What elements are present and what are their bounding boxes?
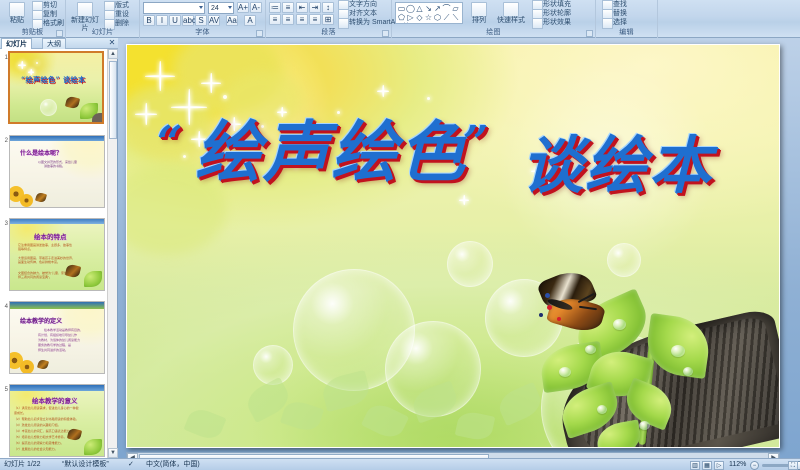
mini-body-line: （5）培养幼儿想象力和文学艺术修养。 xyxy=(14,435,67,439)
thumbnail-number: 3 xyxy=(1,221,8,227)
ribbon-group-editing-label: 编辑 xyxy=(596,27,657,38)
mini-slide-canvas: 绘本的特点 它注重用图画讲述故事，主题多、故事性 强等特点。 大量运用图画，带着… xyxy=(10,219,104,290)
title-close-quote: ” xyxy=(463,117,490,168)
shape-outline-button[interactable]: 形状轮廓 xyxy=(532,9,571,18)
copy-button[interactable]: 复制 xyxy=(32,10,57,19)
mini-slide-canvas: “绘声绘色” 谈绘本 xyxy=(10,53,102,122)
paste-button[interactable]: 粘贴 xyxy=(3,1,31,25)
thumbnail-number: 5 xyxy=(1,387,8,393)
italic-button[interactable]: I xyxy=(156,15,168,26)
bullets-button[interactable]: ≔ xyxy=(269,2,281,13)
ribbon-group-slides-label: 幻灯片 xyxy=(66,27,139,38)
paragraph-dialog-launcher[interactable] xyxy=(382,30,389,37)
thumbnail-image: 绘本教学的定义 绘本教学活动是教师有目的、 有计划、有组织地引导幼儿作 为教材、… xyxy=(9,301,105,374)
tab-slides[interactable]: 幻灯片 xyxy=(1,38,32,49)
paste-icon xyxy=(9,2,25,17)
cut-button[interactable]: 剪切 xyxy=(32,1,57,10)
thumbnail-image: 什么是绘本呢？ 以图文并茂的形式，来给儿童 讲故事的书籍。 xyxy=(9,135,105,208)
butterfly-spot xyxy=(545,293,550,298)
copy-label: 复制 xyxy=(43,11,57,18)
columns-button[interactable]: ⊞ xyxy=(322,14,334,25)
mini-title: 绘本教学的意义 xyxy=(32,395,78,405)
underline-button[interactable]: U xyxy=(169,15,181,26)
change-case-button[interactable]: Aa xyxy=(226,15,238,26)
normal-view-button[interactable]: ▥ xyxy=(690,461,700,470)
butterfly-spot xyxy=(557,317,561,321)
format-painter-label: 格式刷 xyxy=(43,20,64,27)
current-slide[interactable]: “ 绘声绘色 ” 谈绘本 xyxy=(126,44,780,448)
grow-font-button[interactable]: A+ xyxy=(237,2,249,13)
shape-line-icon[interactable]: ⟋ xyxy=(442,13,451,22)
ribbon-group-paragraph: ≔ ≡ ⇤ ⇥ ↕ ≡ ≡ ≡ ≡ ⊞ xyxy=(266,0,392,38)
convert-smartart-button[interactable]: 转换为 SmartArt xyxy=(338,18,400,27)
thumbnail-image: 绘本教学的意义 （1）满足幼儿阅读需求，促进幼儿身心的一种健 康成长。 （2）帮… xyxy=(9,384,105,457)
thumbnail-slide-5[interactable]: 5 绘本教学的意义 （1）满足幼儿阅读需求，促进幼儿身心的一种健 康成长。 （2… xyxy=(0,381,108,458)
align-text-button[interactable]: 对齐文本 xyxy=(338,9,377,18)
powerpoint-window: 粘贴 剪切 复制 格式刷 剪贴板 新建幻灯片 xyxy=(0,0,800,470)
scroll-up-button[interactable]: ▲ xyxy=(108,49,118,59)
arrange-button[interactable]: 排列 xyxy=(466,1,492,25)
shape-triangle-icon[interactable]: △ xyxy=(415,4,424,13)
shape-fill-button[interactable]: 形状填充 xyxy=(532,0,571,9)
butterfly-spot xyxy=(539,313,543,317)
text-direction-button[interactable]: 文字方向 xyxy=(338,0,377,9)
mini-header-band xyxy=(10,302,104,309)
shadow-button[interactable]: S xyxy=(195,15,207,26)
mini-body-line: 强等特点。 xyxy=(18,247,33,251)
mini-body-line: 绘本教学活动是教师有目的、 xyxy=(44,328,83,332)
shape-ellipse-icon[interactable]: ◯ xyxy=(406,4,415,13)
shape-line2-icon[interactable]: ⟍ xyxy=(451,13,460,22)
mini-header-band xyxy=(10,219,104,224)
mini-title: 什么是绘本呢？ xyxy=(20,148,62,157)
mini-body-line: 服务的教与学的过程，是 xyxy=(38,343,71,347)
align-center-button[interactable]: ≡ xyxy=(282,14,294,25)
mini-slide-canvas: 什么是绘本呢？ 以图文并茂的形式，来给儿童 讲故事的书籍。 xyxy=(10,136,104,207)
align-right-button[interactable]: ≡ xyxy=(296,14,308,25)
select-button[interactable]: 选择 xyxy=(602,18,627,27)
thumbnail-slide-3[interactable]: 3 绘本的特点 它注重用图画讲述故事，主题多、故事性 强等特点。 大量运用图画，… xyxy=(0,215,108,298)
layout-label: 版式 xyxy=(115,2,129,9)
chevron-down-icon xyxy=(199,6,203,9)
bold-button[interactable]: B xyxy=(143,15,155,26)
shape-rect-icon[interactable]: ▭ xyxy=(397,4,406,13)
thumbnail-image: 绘本的特点 它注重用图画讲述故事，主题多、故事性 强等特点。 大量运用图画，带着… xyxy=(9,218,105,291)
justify-button[interactable]: ≡ xyxy=(309,14,321,25)
decrease-indent-button[interactable]: ⇤ xyxy=(296,2,308,13)
mini-title: 绘本教学的定义 xyxy=(20,316,62,325)
find-button[interactable]: 查找 xyxy=(602,0,627,9)
ribbon-group-slides: 新建幻灯片 版式 重设 删除 幻灯片 xyxy=(66,0,140,38)
thumbnail-scrollbar[interactable]: ▲ ▼ xyxy=(107,49,117,458)
reset-label: 重设 xyxy=(115,11,129,18)
mini-slide-canvas: 绘本教学的定义 绘本教学活动是教师有目的、 有计划、有组织地引导幼儿作 为教材、… xyxy=(10,302,104,373)
design-template-name[interactable]: “默认设计模板” xyxy=(62,459,109,470)
fit-to-window-button[interactable]: ⛶ xyxy=(788,461,798,470)
numbering-button[interactable]: ≡ xyxy=(282,2,294,13)
shape-star-icon[interactable]: ☆ xyxy=(424,13,433,22)
mini-body-line: （3）激发幼儿阅读的兴趣和习惯。 xyxy=(14,423,61,427)
font-size-value: 24 xyxy=(211,5,219,12)
ribbon: 粘贴 剪切 复制 格式刷 剪贴板 新建幻灯片 xyxy=(0,0,800,38)
shape-brace-left-icon[interactable]: 〈 xyxy=(397,22,406,24)
mini-body-line: 讲故事的书籍。 xyxy=(44,164,65,168)
font-color-button[interactable]: A xyxy=(244,15,256,26)
shape-effects-button[interactable]: 形状效果 xyxy=(532,18,571,27)
ribbon-group-font-label: 字体 xyxy=(140,27,265,38)
mini-title: 绘本的特点 xyxy=(34,231,67,241)
slide-sorter-button[interactable]: ▦ xyxy=(702,461,712,470)
clipboard-dialog-launcher[interactable] xyxy=(56,30,63,37)
quick-styles-icon xyxy=(503,2,519,17)
slide-thumbnail-pane: 幻灯片 大纲 ✕ 1 xyxy=(0,38,118,458)
shrink-font-button[interactable]: A- xyxy=(250,2,262,13)
ribbon-group-drawing-label: 绘图 xyxy=(392,27,595,38)
shape-hexagon-icon[interactable]: ⬡ xyxy=(433,13,442,22)
title-main-text: 绘声绘色 xyxy=(195,99,467,195)
butterfly-spot xyxy=(547,305,552,310)
paste-label: 粘贴 xyxy=(10,17,24,24)
align-left-button[interactable]: ≡ xyxy=(269,14,281,25)
language-indicator[interactable]: 中文(简体，中国) xyxy=(146,459,200,470)
font-name-combo[interactable] xyxy=(143,2,205,14)
mini-body-line: 师三者共同的阅读宝典”。 xyxy=(18,275,52,279)
zoom-out-button[interactable]: − xyxy=(750,461,759,470)
mini-body-line: （4）丰富幼儿的词汇，提高口语表达能力。 xyxy=(14,429,73,433)
status-bar: 幻灯片 1/22 “默认设计模板” ✓ 中文(简体，中国) ▥ ▦ ▷ 112%… xyxy=(0,458,800,470)
spellcheck-icon[interactable]: ✓ xyxy=(128,459,134,470)
ribbon-group-drawing: ▭ ◯ △ ↘ ↗ ⌒ ▱ ⬠ ▷ ◇ ☆ ⬡ ⟋ ⟍ 〈 〉 ⌄ xyxy=(392,0,596,38)
thumbnail-number: 2 xyxy=(1,138,8,144)
thumbnail-list[interactable]: 1 “绘声绘色” 谈绘本 xyxy=(0,49,108,458)
scrollbar-thumb[interactable] xyxy=(109,61,117,139)
quick-styles-label: 快速样式 xyxy=(497,17,525,24)
line-spacing-button[interactable]: ↕ xyxy=(322,2,334,13)
drawing-dialog-launcher[interactable] xyxy=(586,30,593,37)
shape-curve-up-icon[interactable]: ⌃ xyxy=(424,22,433,24)
title-sub-text: 谈绘本 xyxy=(521,115,713,205)
new-slide-icon xyxy=(77,2,93,17)
ribbon-group-editing: 查找 替换 选择 编辑 xyxy=(596,0,658,38)
thumbnail-slide-2[interactable]: 2 什么是绘本呢？ 以图文并茂的形式，来给儿童 讲故事的书籍。 xyxy=(0,132,108,215)
slide-stage: “ 绘声绘色 ” 谈绘本 xyxy=(126,44,780,452)
thumbnail-slide-1[interactable]: 1 “绘声绘色” 谈绘本 xyxy=(0,49,108,132)
increase-indent-button[interactable]: ⇥ xyxy=(309,2,321,13)
mini-header-band xyxy=(10,385,104,391)
shape-pentagon-icon[interactable]: ⬠ xyxy=(397,13,406,22)
ribbon-group-paragraph-label: 段落 xyxy=(266,27,391,38)
shape-arrow-down-icon[interactable]: ↘ xyxy=(424,4,433,13)
character-spacing-button[interactable]: AV xyxy=(208,15,220,26)
slideshow-button[interactable]: ▷ xyxy=(714,461,724,470)
scroll-down-button[interactable]: ▼ xyxy=(108,448,118,458)
thumbnail-number: 4 xyxy=(1,304,8,310)
mini-body-line: （2）帮助幼儿初步建立对书籍阅读的积极体验。 xyxy=(14,417,79,421)
mini-body-line: 师生共同进步的活动。 xyxy=(38,348,68,352)
reset-button[interactable]: 重设 xyxy=(104,10,129,19)
arrange-icon xyxy=(471,2,487,17)
close-pane-icon[interactable]: ✕ xyxy=(108,39,116,47)
font-dialog-launcher[interactable] xyxy=(256,30,263,37)
shape-parallelogram-icon[interactable]: ▱ xyxy=(451,4,460,13)
shape-brace-right-icon[interactable]: 〉 xyxy=(406,22,415,24)
thumbnail-number: 1 xyxy=(1,55,8,61)
mini-title: “绘声绘色” 谈绘本 xyxy=(21,75,86,85)
mini-body-line: 有计划、有组织地引导幼儿作 xyxy=(38,333,77,337)
font-size-combo[interactable]: 24 xyxy=(208,2,234,14)
thumbnail-image: “绘声绘色” 谈绘本 xyxy=(8,51,104,124)
shape-play-icon[interactable]: ▷ xyxy=(406,13,415,22)
tab-outline[interactable]: 大纲 xyxy=(42,38,66,49)
shape-curve-down-icon[interactable]: ⌄ xyxy=(415,22,424,24)
mini-body-line: （1）满足幼儿阅读需求，促进幼儿身心的一种健 xyxy=(14,406,79,410)
pane-tabbar: 幻灯片 大纲 ✕ xyxy=(0,38,118,49)
mini-header-band xyxy=(10,136,104,141)
quick-styles-button[interactable]: 快速样式 xyxy=(494,1,528,25)
zoom-level-label[interactable]: 112% xyxy=(729,459,746,470)
delete-slide-label: 删除 xyxy=(115,20,129,27)
ribbon-group-clipboard: 粘贴 剪切 复制 格式刷 剪贴板 xyxy=(0,0,66,38)
mini-body-line: 为教材、为载体的幼儿阅读能力 xyxy=(38,338,80,342)
slide-counter[interactable]: 幻灯片 1/22 xyxy=(4,459,41,470)
mini-slide-canvas: 绘本教学的意义 （1）满足幼儿阅读需求，促进幼儿身心的一种健 康成长。 （2）帮… xyxy=(10,385,104,456)
mini-body-line: （7）发展幼儿的社会认知能力。 xyxy=(14,447,58,451)
slide-title-placeholder[interactable]: “ 绘声绘色 ” 谈绘本 xyxy=(151,93,761,213)
arrange-label: 排列 xyxy=(472,17,486,24)
ribbon-group-font: 24 A+ A- B I U abc S xyxy=(140,0,266,38)
strikethrough-button[interactable]: abc xyxy=(182,15,194,26)
shape-arc-icon[interactable]: ⌒ xyxy=(442,4,451,13)
shape-diamond-icon[interactable]: ◇ xyxy=(415,13,424,22)
butterfly xyxy=(531,273,623,359)
shapes-gallery[interactable]: ▭ ◯ △ ↘ ↗ ⌒ ▱ ⬠ ▷ ◇ ☆ ⬡ ⟋ ⟍ 〈 〉 ⌄ xyxy=(395,2,463,24)
workspace: 幻灯片 大纲 ✕ 1 xyxy=(0,38,800,458)
thumbnail-slide-4[interactable]: 4 绘本教学的定义 绘本教学活动是教师有目的、 有计划、有组织地引导幼儿作 为教… xyxy=(0,298,108,381)
replace-button[interactable]: 替换 xyxy=(602,9,627,18)
cut-label: 剪切 xyxy=(43,2,57,9)
mini-body-line: 康成长。 xyxy=(14,411,26,415)
chevron-down-icon xyxy=(228,6,232,9)
layout-button[interactable]: 版式 xyxy=(104,1,129,10)
mini-body-line: 画面生动传神，色彩鲜艳丰富。 xyxy=(18,260,60,264)
title-open-quote: “ xyxy=(157,117,184,168)
shape-arrow-up-icon[interactable]: ↗ xyxy=(433,4,442,13)
mini-body-line: （6）提高幼儿的观察力和思维能力。 xyxy=(14,441,64,445)
